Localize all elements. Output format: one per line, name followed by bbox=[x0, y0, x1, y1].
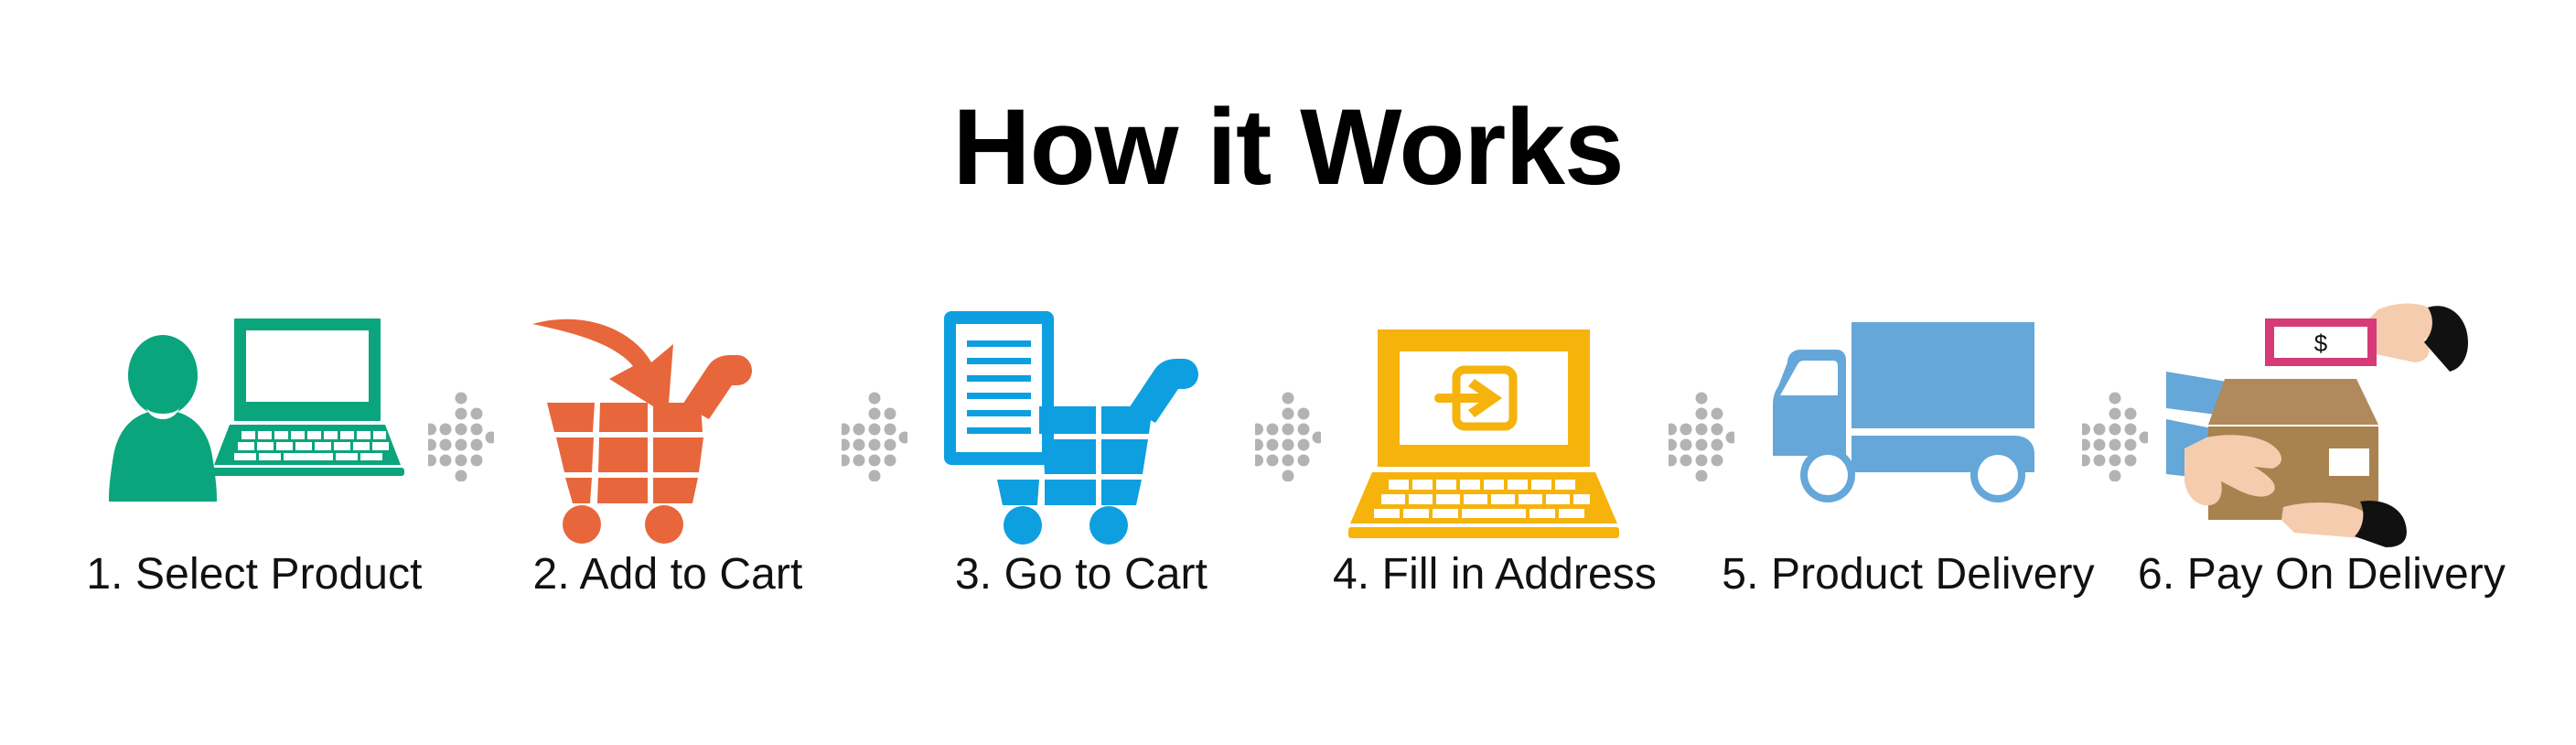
hands-exchanging-box-and-money-icon: $ bbox=[2166, 302, 2477, 547]
step-6-label: 6. Pay On Delivery bbox=[2138, 553, 2506, 597]
step-3-label: 3. Go to Cart bbox=[955, 553, 1207, 597]
dollar-sign-glyph: $ bbox=[2314, 329, 2328, 357]
step-3-go-to-cart[interactable]: 3. Go to Cart bbox=[911, 302, 1251, 668]
connector-2-3 bbox=[838, 302, 911, 668]
shipping-label bbox=[2329, 448, 2369, 476]
step-2-label: 2. Add to Cart bbox=[533, 553, 803, 597]
delivery-truck-icon bbox=[1753, 302, 2064, 547]
step-1-select-product[interactable]: 1. Select Product bbox=[84, 302, 424, 668]
connector-5-6 bbox=[2078, 302, 2152, 668]
how-it-works-infographic: How it Works bbox=[0, 0, 2576, 745]
step-5-label: 5. Product Delivery bbox=[1722, 553, 2094, 597]
dotted-arrow-right-icon bbox=[2082, 386, 2148, 481]
dotted-arrow-right-icon bbox=[842, 386, 907, 481]
steps-row: 1. Select Product bbox=[0, 302, 2576, 668]
step-2-add-to-cart[interactable]: 2. Add to Cart bbox=[498, 302, 838, 668]
step-1-label: 1. Select Product bbox=[86, 553, 422, 597]
person-at-laptop-icon bbox=[99, 302, 410, 547]
laptop-login-arrow-icon bbox=[1339, 302, 1650, 547]
dotted-arrow-right-icon bbox=[428, 386, 494, 481]
dotted-arrow-right-icon bbox=[1669, 386, 1734, 481]
connector-4-5 bbox=[1665, 302, 1738, 668]
page-title: How it Works bbox=[0, 93, 2576, 201]
dotted-arrow-right-icon bbox=[1255, 386, 1321, 481]
cart-with-curved-arrow-icon bbox=[512, 302, 823, 547]
connector-3-4 bbox=[1251, 302, 1325, 668]
step-5-product-delivery[interactable]: 5. Product Delivery bbox=[1738, 302, 2078, 668]
step-4-fill-in-address[interactable]: 4. Fill in Address bbox=[1325, 302, 1665, 668]
connector-1-2 bbox=[424, 302, 498, 668]
step-6-pay-on-delivery[interactable]: $ 6. Pay On Delivery bbox=[2152, 302, 2492, 668]
step-4-label: 4. Fill in Address bbox=[1333, 553, 1657, 597]
document-and-cart-icon bbox=[926, 302, 1237, 547]
